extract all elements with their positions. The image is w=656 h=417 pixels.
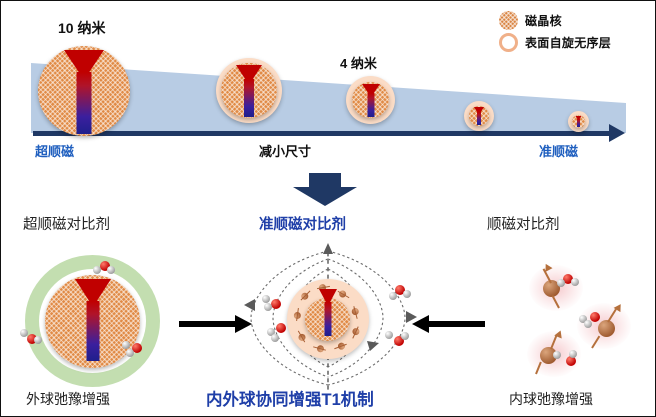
spin-arrow-icon [293, 308, 302, 322]
hollow-ring-circle-icon [499, 33, 518, 52]
spin-arrow-icon [298, 288, 312, 302]
spin-arrow-icon [312, 343, 326, 353]
nanoparticle-4nm [346, 76, 395, 124]
water-molecule [557, 274, 579, 288]
section-title-superparamagnetic-agent: 超顺磁对比剂 [23, 213, 110, 234]
water-molecule [93, 261, 115, 275]
water-molecule [389, 285, 411, 299]
water-molecule [121, 341, 143, 355]
spin-arrow-icon [350, 305, 360, 319]
paramagnetic-ions-diagram [489, 263, 649, 388]
size-axis-line [33, 131, 613, 136]
size-axis-arrowhead [609, 124, 625, 142]
spin-arrow-icon [333, 341, 348, 352]
water-molecule [553, 351, 575, 365]
superparamagnetic-particle-diagram [19, 253, 184, 388]
water-molecule [385, 331, 407, 345]
legend-label-core: 磁晶核 [525, 12, 562, 29]
section-title-quasi-paramagnetic-agent: 准顺磁对比剂 [259, 213, 346, 234]
spin-arrow-icon [295, 329, 308, 344]
nanoparticle-tiny [568, 111, 589, 132]
water-molecule [262, 295, 284, 309]
nanoparticle-small [464, 101, 494, 131]
caption-inner-sphere-relaxation: 内球弛豫增强 [509, 389, 593, 409]
nanoparticle-10nm [38, 46, 130, 136]
spin-arrow-icon [336, 288, 351, 301]
water-molecule [579, 312, 601, 326]
size-label-4nm: 4 纳米 [340, 53, 377, 72]
water-molecule [267, 323, 289, 337]
left-arrowhead-icon [412, 315, 429, 333]
legend-item-shell: 表面自旋无序层 [499, 31, 651, 53]
filled-hatched-circle-icon [499, 11, 518, 30]
spin-arrow-icon [350, 325, 362, 340]
paramagnetic-ion-complex [577, 303, 631, 349]
legend-item-core: 磁晶核 [499, 9, 651, 31]
axis-label-superparamagnetic: 超顺磁 [35, 141, 74, 160]
size-label-10nm: 10 纳米 [58, 18, 105, 38]
magnetic-core [305, 298, 350, 341]
legend: 磁晶核 表面自旋无序层 [499, 9, 651, 53]
nanoparticle-medium [216, 58, 282, 123]
left-arrow-icon [429, 321, 485, 327]
right-arrow-icon [179, 321, 235, 327]
legend-label-shell: 表面自旋无序层 [525, 34, 611, 51]
axis-label-reduce-size: 减小尺寸 [259, 141, 311, 160]
axis-label-quasi-paramagnetic: 准顺磁 [539, 141, 578, 160]
caption-synergistic-t1-mechanism: 内外球协同增强T1机制 [206, 386, 374, 410]
caption-outer-sphere-relaxation: 外球弛豫增强 [26, 389, 110, 409]
section-title-paramagnetic-agent: 顺磁对比剂 [487, 213, 560, 234]
water-molecule [20, 329, 42, 343]
paramagnetic-ion-complex [527, 331, 581, 377]
paramagnetic-ion-complex [529, 265, 583, 311]
down-arrow-icon [289, 173, 361, 207]
quasi-paramagnetic-particle-diagram [229, 243, 425, 393]
